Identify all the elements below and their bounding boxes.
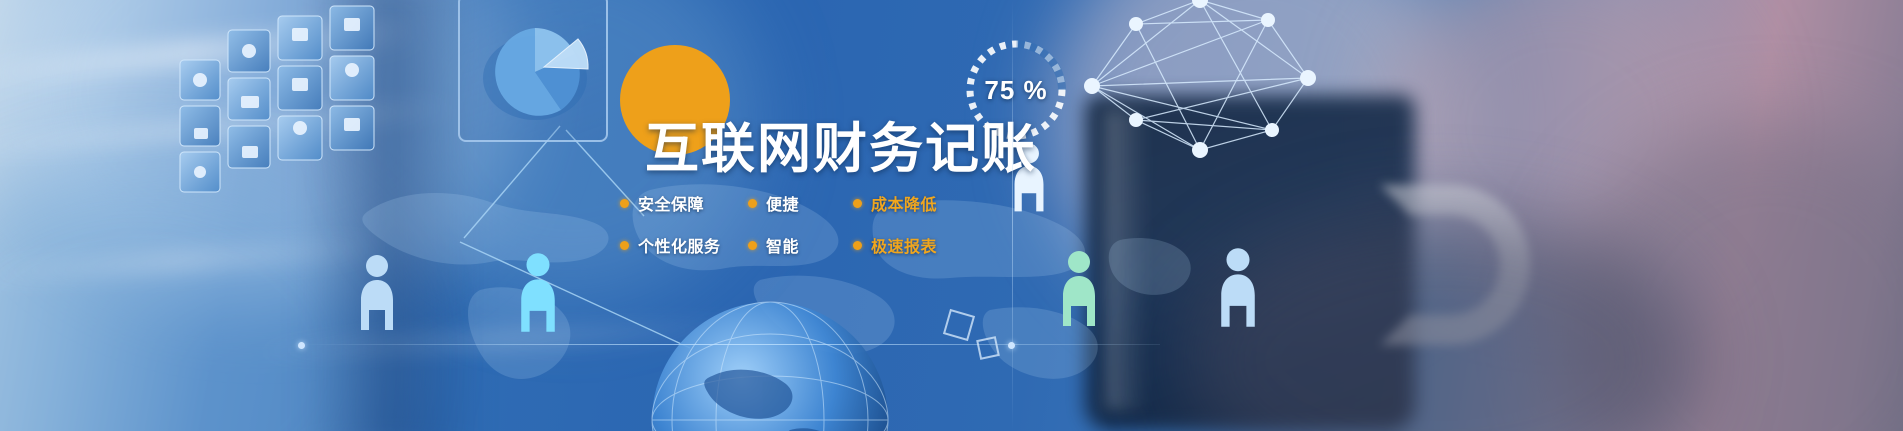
feature-item-convenient[interactable]: 便捷 — [748, 191, 853, 215]
page-title: 互联网财务记账 — [645, 104, 1037, 183]
person-icon — [516, 250, 560, 334]
bullet-dot-icon — [748, 199, 757, 208]
bullet-dot-icon — [853, 199, 862, 208]
feature-list: 安全保障 便捷 成本降低 个性化服务 智能 极速报表 — [620, 182, 980, 266]
feature-item-personalized-service[interactable]: 个性化服务 — [620, 233, 748, 257]
feature-label: 智能 — [766, 233, 799, 257]
bullet-dot-icon — [620, 241, 629, 250]
pie-chart-panel — [458, 0, 608, 142]
divider-dot — [298, 342, 305, 349]
network-graph — [1040, 0, 1360, 190]
pie-chart — [468, 2, 602, 136]
feature-row: 个性化服务 智能 极速报表 — [620, 224, 980, 266]
globe-graphic — [640, 290, 900, 431]
icon-cubes-cluster — [150, 0, 430, 230]
person-icon — [1216, 245, 1260, 329]
feature-label: 便捷 — [766, 191, 799, 215]
feature-label: 成本降低 — [871, 191, 937, 215]
banner-root: 75 % 互联网财务记账 — [0, 0, 1903, 431]
feature-label: 个性化服务 — [638, 233, 721, 257]
person-icon — [1058, 248, 1100, 328]
bottom-divider — [300, 344, 1160, 345]
bullet-dot-icon — [748, 241, 757, 250]
feature-item-intelligent[interactable]: 智能 — [748, 233, 853, 257]
feature-label: 安全保障 — [638, 191, 704, 215]
feature-item-fast-reports[interactable]: 极速报表 — [853, 233, 973, 257]
vertical-divider — [1012, 0, 1013, 431]
decor-square — [976, 336, 1000, 360]
bullet-dot-icon — [853, 241, 862, 250]
feature-item-cost-reduction[interactable]: 成本降低 — [853, 191, 973, 215]
feature-row: 安全保障 便捷 成本降低 — [620, 182, 980, 224]
person-icon — [356, 252, 398, 332]
bullet-dot-icon — [620, 199, 629, 208]
feature-label: 极速报表 — [871, 233, 937, 257]
feature-item-safety[interactable]: 安全保障 — [620, 191, 748, 215]
